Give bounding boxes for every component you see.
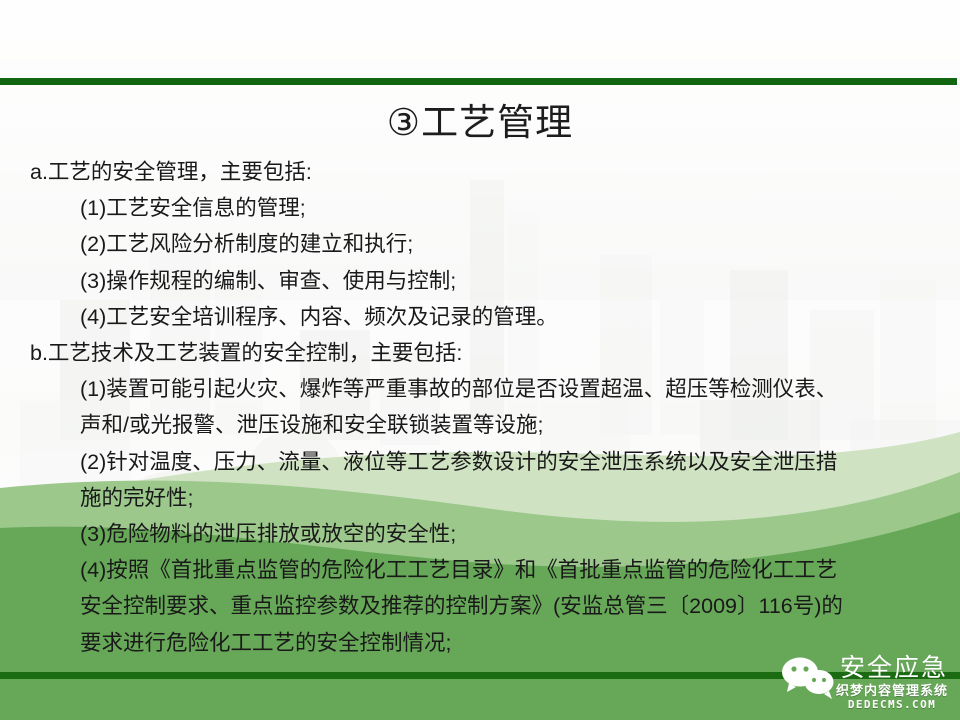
paragraph-b-3: (3)危险物料的泄压排放或放空的安全性; [30, 516, 940, 552]
watermark-en: DEDECMS.COM [822, 698, 960, 712]
paragraph-b-2-line2: 施的完好性; [30, 480, 940, 516]
paragraph-b-4-line2: 安全控制要求、重点监控参数及推荐的控制方案》(安监总管三〔2009〕116号)的 [30, 588, 940, 624]
brand-logo-block: 安全应急 织梦内容管理系统 DEDECMS.COM [780, 650, 960, 720]
body-text-block: a.工艺的安全管理，主要包括: (1)工艺安全信息的管理; (2)工艺风险分析制… [30, 154, 940, 661]
watermark-cn: 织梦内容管理系统 [822, 683, 960, 698]
page-title: ③工艺管理 [0, 101, 960, 145]
paragraph-a-2: (2)工艺风险分析制度的建立和执行; [30, 226, 940, 262]
slide-content: ③工艺管理 a.工艺的安全管理，主要包括: (1)工艺安全信息的管理; (2)工… [0, 0, 960, 720]
paragraph-a-head: a.工艺的安全管理，主要包括: [30, 154, 940, 190]
paragraph-b-4-line1: (4)按照《首批重点监管的危险化工工艺目录》和《首批重点监管的危险化工工艺 [30, 552, 940, 588]
paragraph-b-1-line2: 声和/或光报警、泄压设施和安全联锁装置等设施; [30, 407, 940, 443]
site-watermark: 织梦内容管理系统 DEDECMS.COM [822, 683, 960, 712]
paragraph-b-1-line1: (1)装置可能引起火灾、爆炸等严重事故的部位是否设置超温、超压等检测仪表、 [30, 371, 940, 407]
paragraph-a-3: (3)操作规程的编制、审查、使用与控制; [30, 263, 940, 299]
paragraph-a-4: (4)工艺安全培训程序、内容、频次及记录的管理。 [30, 299, 940, 335]
slide-canvas: ③工艺管理 a.工艺的安全管理，主要包括: (1)工艺安全信息的管理; (2)工… [0, 0, 960, 720]
paragraph-b-head: b.工艺技术及工艺装置的安全控制，主要包括: [30, 335, 940, 371]
brand-label: 安全应急 [840, 653, 948, 683]
paragraph-a-1: (1)工艺安全信息的管理; [30, 190, 940, 226]
paragraph-b-2-line1: (2)针对温度、压力、流量、液位等工艺参数设计的安全泄压系统以及安全泄压措 [30, 444, 940, 480]
